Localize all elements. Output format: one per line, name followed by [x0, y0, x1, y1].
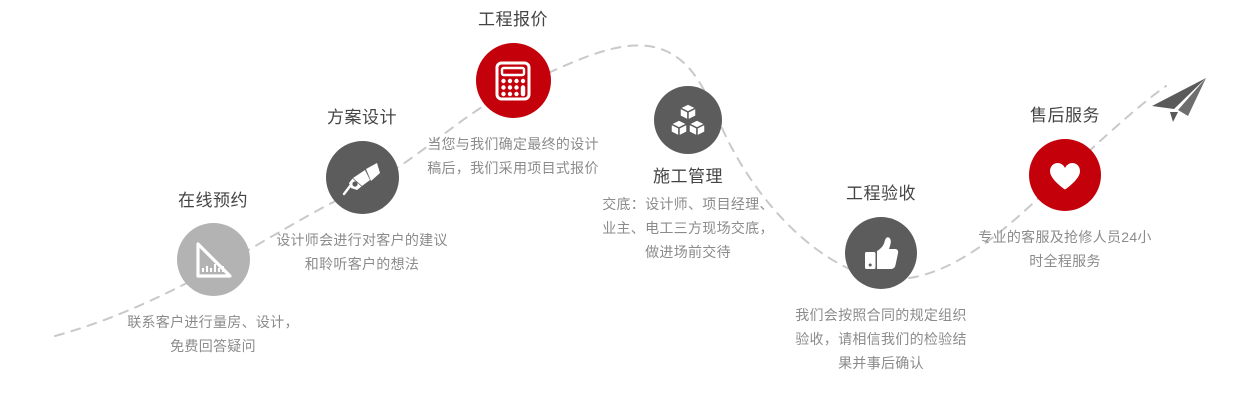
step-6-icon-circle[interactable] — [1029, 139, 1101, 211]
step-5-project-acceptance[interactable]: 工程验收 我们会按照合同的规定组织验收，请相信我们的检验结果并事后确认 — [793, 183, 969, 375]
step-3-title: 工程报价 — [423, 9, 603, 31]
step-1-icon-circle[interactable] — [177, 223, 250, 296]
step-4-description: 交底：设计师、项目经理、业主、电工三方现场交底，做进场前交待 — [600, 192, 776, 264]
step-1-description: 联系客户进行量房、设计，免费回答疑问 — [123, 310, 303, 358]
step-3-project-quotation[interactable]: 工程报价 当您与我们确定最终的设计稿后，我们采用项目式报价 — [423, 9, 603, 180]
step-2-icon-circle[interactable] — [326, 141, 399, 214]
thumbs-up-icon — [861, 233, 901, 273]
step-2-description: 设计师会进行对客户的建议和聆听客户的想法 — [272, 228, 452, 276]
process-timeline: 在线预约 联系客户进行量房、设计，免费回答疑问 方案设计 设计师会进行对客户的建… — [0, 0, 1245, 402]
step-4-construction-management[interactable]: 施工管理 交底：设计师、项目经理、业主、电工三方现场交底，做进场前交待 — [600, 86, 776, 264]
step-3-description: 当您与我们确定最终的设计稿后，我们采用项目式报价 — [423, 132, 603, 180]
triangle-ruler-icon — [191, 238, 235, 282]
step-6-after-sales-service[interactable]: 售后服务 专业的客服及抢修人员24小时全程服务 — [975, 105, 1155, 273]
step-5-description: 我们会按照合同的规定组织验收，请相信我们的检验结果并事后确认 — [793, 303, 969, 375]
step-5-icon-circle[interactable] — [845, 217, 917, 289]
step-5-title: 工程验收 — [793, 183, 969, 205]
step-3-icon-circle[interactable] — [476, 43, 551, 118]
building-blocks-icon — [668, 100, 708, 140]
calculator-icon — [492, 60, 534, 102]
step-4-icon-circle[interactable] — [654, 86, 722, 154]
heart-icon — [1045, 155, 1085, 195]
paper-plane-icon — [1148, 76, 1210, 126]
step-6-title: 售后服务 — [975, 105, 1155, 127]
pen-nib-icon — [341, 157, 383, 199]
step-4-title: 施工管理 — [600, 166, 776, 188]
step-6-description: 专业的客服及抢修人员24小时全程服务 — [975, 225, 1155, 273]
